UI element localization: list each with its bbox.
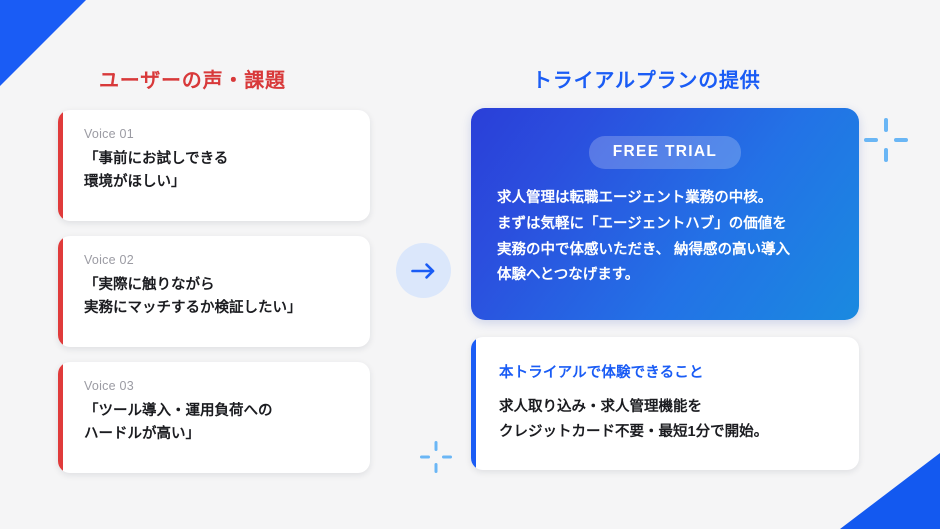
voice-label: Voice 02 bbox=[84, 253, 350, 267]
trial-benefits-title: 本トライアルで体験できること bbox=[499, 361, 839, 382]
voice-quote: 「実際に触りながら 実務にマッチするか検証したい」 bbox=[84, 274, 350, 321]
voice-quote-line-1: 「事前にお試しできる bbox=[84, 148, 350, 171]
plus-mark-icon-small bbox=[420, 441, 452, 473]
trial-line-3: 実務の中で体感いただき、 納得感の高い導入 bbox=[497, 238, 839, 264]
voice-card-03: Voice 03 「ツール導入・運用負荷への ハードルが高い」 bbox=[58, 362, 370, 473]
voice-label: Voice 01 bbox=[84, 127, 350, 141]
free-trial-badge: FREE TRIAL bbox=[589, 136, 741, 169]
plus-bar-left bbox=[420, 456, 430, 459]
voice-card-01: Voice 01 「事前にお試しできる 環境がほしい」 bbox=[58, 110, 370, 221]
voice-quote-line-1: 「実際に触りながら bbox=[84, 274, 350, 297]
benefit-line-2: クレジットカード不要・最短1分で開始。 bbox=[499, 420, 839, 445]
trial-benefits-description: 求人取り込み・求人管理機能を クレジットカード不要・最短1分で開始。 bbox=[499, 395, 839, 444]
voice-quote-line-2: ハードルが高い」 bbox=[84, 423, 350, 446]
voice-card-02: Voice 02 「実際に触りながら 実務にマッチするか検証したい」 bbox=[58, 236, 370, 347]
free-trial-card: FREE TRIAL 求人管理は転職エージェント業務の中核。 まずは気軽に「エー… bbox=[471, 108, 859, 320]
plus-bar-top bbox=[435, 441, 438, 451]
user-voices-column: ユーザーの声・課題 Voice 01 「事前にお試しできる 環境がほしい」 Vo… bbox=[0, 0, 400, 529]
trial-plan-heading: トライアルプランの提供 bbox=[532, 64, 761, 93]
plus-bar-top bbox=[884, 118, 888, 132]
trial-plan-column: トライアルプランの提供 FREE TRIAL 求人管理は転職エージェント業務の中… bbox=[466, 0, 866, 529]
trial-line-2: まずは気軽に「エージェントハブ」の価値を bbox=[497, 212, 839, 238]
plus-bar-bottom bbox=[884, 148, 888, 162]
trial-line-1: 求人管理は転職エージェント業務の中核。 bbox=[497, 186, 839, 212]
arrow-right-icon bbox=[411, 262, 437, 280]
trial-benefits-card: 本トライアルで体験できること 求人取り込み・求人管理機能を クレジットカード不要… bbox=[471, 337, 859, 470]
plus-mark-icon-large bbox=[864, 118, 908, 162]
user-voices-heading: ユーザーの声・課題 bbox=[99, 64, 286, 93]
voice-quote-line-2: 実務にマッチするか検証したい」 bbox=[84, 297, 350, 320]
free-trial-description: 求人管理は転職エージェント業務の中核。 まずは気軽に「エージェントハブ」の価値を… bbox=[491, 186, 839, 289]
plus-bar-bottom bbox=[435, 463, 438, 473]
voice-label: Voice 03 bbox=[84, 379, 350, 393]
plus-bar-right bbox=[442, 456, 452, 459]
arrow-connector bbox=[396, 243, 451, 298]
voice-quote-line-1: 「ツール導入・運用負荷への bbox=[84, 400, 350, 423]
trial-line-4: 体験へとつなげます。 bbox=[497, 263, 839, 289]
voice-quote-line-2: 環境がほしい」 bbox=[84, 171, 350, 194]
voice-quote: 「事前にお試しできる 環境がほしい」 bbox=[84, 148, 350, 195]
voice-quote: 「ツール導入・運用負荷への ハードルが高い」 bbox=[84, 400, 350, 447]
plus-bar-right bbox=[894, 138, 908, 142]
benefit-line-1: 求人取り込み・求人管理機能を bbox=[499, 395, 839, 420]
plus-bar-left bbox=[864, 138, 878, 142]
